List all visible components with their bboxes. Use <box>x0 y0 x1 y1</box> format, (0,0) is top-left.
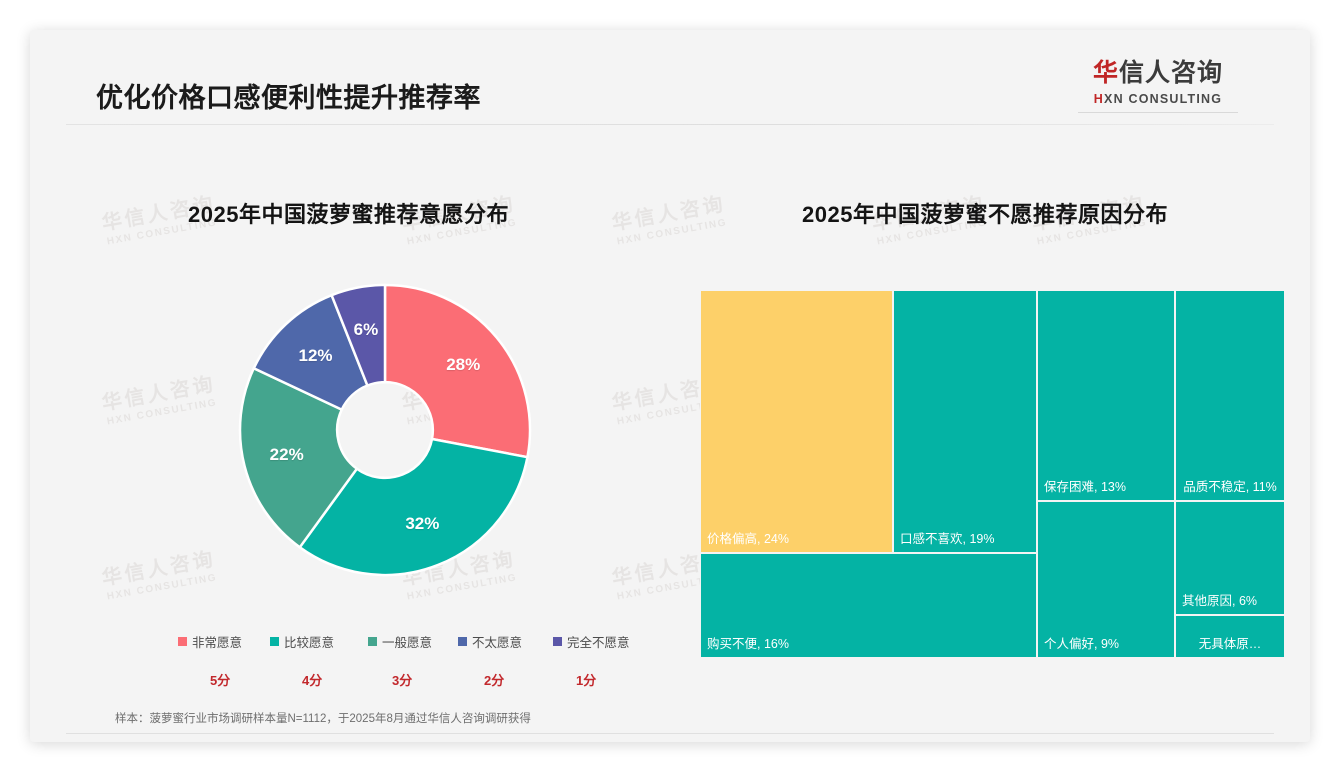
treemap-cell-label: 品质不稳定, 11% <box>1180 480 1280 495</box>
logo-underline <box>1078 112 1238 113</box>
treemap-cell-label: 个人偏好, 9% <box>1044 637 1170 652</box>
score-label-3: 2分 <box>484 670 504 689</box>
donut-slice-label: 6% <box>354 320 379 340</box>
sample-footnote: 样本：菠萝蜜行业市场调研样本量N=1112，于2025年8月通过华信人咨询调研获… <box>115 710 531 726</box>
score-label-2: 3分 <box>392 670 412 689</box>
treemap-cell[interactable]: 个人偏好, 9% <box>1037 501 1175 658</box>
donut-score-row: 5分4分3分2分1分 <box>178 670 658 690</box>
left-chart-title: 2025年中国菠萝蜜推荐意愿分布 <box>188 197 509 229</box>
header-divider <box>66 124 1274 125</box>
donut-slice-label: 28% <box>446 355 480 375</box>
score-label-4: 1分 <box>576 670 596 689</box>
page-title: 优化价格口感便利性提升推荐率 <box>96 76 481 115</box>
legend-label: 比较愿意 <box>284 632 334 651</box>
logo-en-highlight: H <box>1094 92 1104 106</box>
treemap-cell[interactable]: 品质不稳定, 11% <box>1175 290 1285 501</box>
legend-item-2[interactable]: 一般愿意 <box>368 632 432 651</box>
treemap-cell[interactable]: 其他原因, 6% <box>1175 501 1285 615</box>
legend-swatch-icon <box>270 637 279 646</box>
right-chart-title: 2025年中国菠萝蜜不愿推荐原因分布 <box>802 197 1168 229</box>
watermark: 华信人咨询HXN CONSULTING <box>598 190 742 251</box>
legend-label: 一般愿意 <box>382 632 432 651</box>
treemap-cell[interactable]: 购买不便, 16% <box>700 553 1037 658</box>
score-label-1: 4分 <box>302 670 322 689</box>
donut-legend: 非常愿意比较愿意一般愿意不太愿意完全不愿意 <box>178 632 658 650</box>
treemap-cell-label: 保存困难, 13% <box>1044 480 1170 495</box>
donut-slice-label: 12% <box>299 346 333 366</box>
treemap-cell[interactable]: 口感不喜欢, 19% <box>893 290 1037 553</box>
legend-swatch-icon <box>368 637 377 646</box>
treemap-cell[interactable]: 价格偏高, 24% <box>700 290 893 553</box>
logo-en-rest: XN CONSULTING <box>1104 92 1222 106</box>
legend-swatch-icon <box>553 637 562 646</box>
legend-item-3[interactable]: 不太愿意 <box>458 632 522 651</box>
footer-divider <box>66 733 1274 734</box>
logo-english-text: HXN CONSULTING <box>1068 92 1248 106</box>
legend-item-4[interactable]: 完全不愿意 <box>553 632 630 651</box>
legend-label: 不太愿意 <box>472 632 522 651</box>
treemap-cell-label: 口感不喜欢, 19% <box>900 532 1032 547</box>
score-label-0: 5分 <box>210 670 230 689</box>
slide-header: 优化价格口感便利性提升推荐率 华信人咨询 HXN CONSULTING <box>30 30 1310 124</box>
slide: 优化价格口感便利性提升推荐率 华信人咨询 HXN CONSULTING 华信人咨… <box>30 30 1310 742</box>
logo-cn-highlight: 华 <box>1093 59 1119 87</box>
donut-slice-label: 32% <box>405 514 439 534</box>
legend-item-1[interactable]: 比较愿意 <box>270 632 334 651</box>
legend-item-0[interactable]: 非常愿意 <box>178 632 242 651</box>
donut-slice-label: 22% <box>270 445 304 465</box>
treemap-cell-label: 购买不便, 16% <box>707 637 1032 652</box>
treemap-cell-label: 价格偏高, 24% <box>707 532 888 547</box>
treemap-cell[interactable]: 无具体原… <box>1175 615 1285 658</box>
legend-swatch-icon <box>458 637 467 646</box>
unwilling-reasons-treemap: 价格偏高, 24%口感不喜欢, 19%购买不便, 16%保存困难, 13%品质不… <box>700 290 1285 658</box>
donut-svg <box>200 275 570 585</box>
treemap-cell-label: 其他原因, 6% <box>1182 594 1280 609</box>
logo-cn-rest: 信人咨询 <box>1119 59 1223 87</box>
legend-swatch-icon <box>178 637 187 646</box>
company-logo: 华信人咨询 HXN CONSULTING <box>1068 60 1248 113</box>
recommendation-willingness-donut-chart: 28%32%22%12%6% <box>200 275 570 585</box>
legend-label: 完全不愿意 <box>567 632 630 651</box>
legend-label: 非常愿意 <box>192 632 242 651</box>
treemap-cell-label: 无具体原… <box>1180 637 1280 652</box>
treemap-cell[interactable]: 保存困难, 13% <box>1037 290 1175 501</box>
logo-chinese-text: 华信人咨询 <box>1068 60 1248 88</box>
